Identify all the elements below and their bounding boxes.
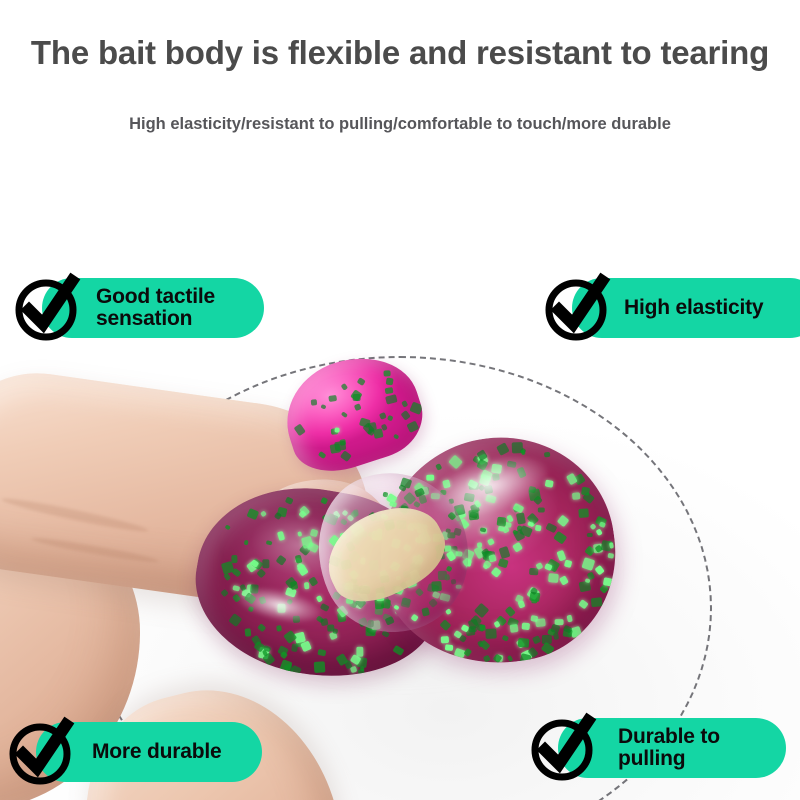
glitter-flake	[558, 575, 568, 586]
glitter-flake	[513, 542, 524, 553]
glitter-flake	[521, 622, 530, 630]
glitter-flake	[507, 461, 517, 469]
glitter-flake	[485, 494, 497, 504]
glitter-flake	[446, 566, 453, 573]
glitter-flake	[440, 636, 448, 643]
glitter-flake	[591, 597, 603, 607]
glitter-flake	[578, 599, 589, 610]
glitter-flake	[571, 492, 580, 500]
glitter-flake	[496, 516, 506, 526]
check-circle-icon	[6, 716, 78, 788]
glitter-flake	[490, 566, 502, 578]
badge-label: High elasticity	[624, 297, 763, 319]
glitter-flake	[589, 523, 596, 530]
glitter-flake	[504, 606, 515, 618]
check-circle-icon	[528, 712, 600, 784]
glitter-flake	[565, 473, 577, 486]
glitter-flake	[544, 452, 550, 457]
glitter-flake	[422, 607, 431, 616]
glitter-flake	[499, 545, 510, 558]
page-title: The bait body is flexible and resistant …	[0, 34, 800, 72]
product-photo	[0, 160, 800, 800]
badge-high-elasticity[interactable]: High elasticity	[572, 278, 800, 338]
glitter-flake	[441, 479, 450, 489]
glitter-flake	[548, 573, 559, 583]
glitter-flake	[582, 557, 596, 571]
badge-good-tactile-sensation[interactable]: Good tactile sensation	[42, 278, 264, 338]
glitter-flake	[445, 644, 454, 651]
glitter-flake	[518, 638, 530, 648]
glitter-flake	[502, 635, 510, 642]
glitter-flake	[498, 558, 509, 568]
glitter-flake	[538, 508, 545, 513]
glitter-flake	[426, 475, 434, 481]
glitter-flake	[556, 514, 569, 527]
badge-more-durable[interactable]: More durable	[36, 722, 262, 782]
glitter-flake	[529, 568, 538, 575]
glitter-flake	[581, 487, 590, 496]
glitter-flake	[528, 485, 536, 492]
glitter-flake	[447, 512, 456, 521]
glitter-flake	[595, 565, 605, 576]
page-subtitle: High elasticity/resistant to pulling/com…	[0, 115, 800, 134]
badge-label: More durable	[92, 741, 221, 763]
glitter-flake	[553, 632, 559, 640]
glitter-flake	[516, 512, 526, 524]
glitter-flake	[410, 614, 418, 622]
glitter-flake	[463, 648, 472, 657]
check-circle-icon	[12, 272, 84, 344]
glitter-flake	[445, 551, 455, 562]
glitter-flake	[507, 655, 513, 662]
glitter-flake	[510, 624, 519, 633]
glitter-flake	[608, 542, 614, 548]
glitter-flake	[596, 529, 603, 536]
glitter-flake	[485, 628, 496, 638]
glitter-flake	[516, 466, 527, 478]
glitter-flake	[566, 614, 573, 622]
badge-durable-to-pulling[interactable]: Durable to pulling	[558, 718, 786, 778]
glitter-flake	[448, 455, 462, 469]
glitter-flake	[517, 600, 525, 609]
glitter-flake	[531, 635, 541, 645]
glitter-flake	[483, 654, 491, 662]
check-circle-icon	[542, 272, 614, 344]
glitter-flake	[554, 531, 568, 544]
glitter-flake	[607, 553, 614, 559]
infographic-page: The bait body is flexible and resistant …	[0, 0, 800, 800]
glitter-flake	[491, 464, 503, 474]
badge-label: Good tactile sensation	[96, 286, 215, 331]
glitter-flake	[436, 463, 443, 470]
badge-label: Durable to pulling	[618, 726, 720, 771]
glitter-flake	[545, 479, 554, 487]
glitter-flake	[459, 635, 467, 643]
glitter-flake	[586, 533, 592, 538]
glitter-flake	[564, 559, 573, 568]
glitter-flake	[455, 551, 462, 557]
glitter-flake	[496, 442, 509, 456]
glitter-flake	[602, 577, 612, 586]
glitter-flake	[598, 522, 605, 528]
glitter-flake	[535, 525, 542, 531]
glitter-flake	[578, 508, 589, 517]
glitter-flake	[546, 522, 558, 533]
glitter-flake	[484, 485, 494, 495]
glitter-flake	[439, 619, 451, 631]
glitter-flake	[489, 554, 498, 563]
glitter-flake	[464, 492, 475, 501]
glitter-flake	[431, 581, 441, 591]
glitter-flake	[487, 538, 496, 546]
glitter-flake	[409, 402, 423, 416]
